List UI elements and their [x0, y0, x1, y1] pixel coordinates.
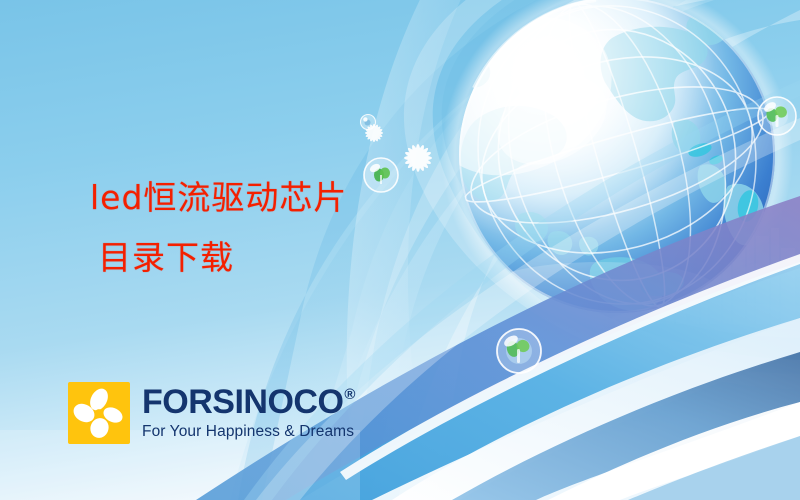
- brand-tagline: For Your Happiness & Dreams: [142, 423, 355, 441]
- registered-trademark-icon: ®: [344, 387, 355, 402]
- brand-name-row: FORSINOCO ®: [142, 385, 355, 419]
- brand-text-block: FORSINOCO ® For Your Happiness & Dreams: [142, 385, 355, 441]
- sparkle-flower-large: [404, 144, 432, 172]
- brand-name-text: FORSINOCO: [142, 385, 343, 419]
- bubble-globe-medium: [364, 158, 398, 192]
- banner-canvas: led恒流驱动芯片 目录下载 FORSINOCO ® F: [0, 0, 800, 500]
- brand-logo[interactable]: FORSINOCO ® For Your Happiness & Dreams: [68, 382, 355, 444]
- bubble-leaf-right: [758, 97, 796, 135]
- forsinoco-pinwheel-mark: [68, 382, 130, 444]
- bubble-globe-small-top: [361, 115, 376, 130]
- bubble-leaf-lower-center: [497, 329, 541, 373]
